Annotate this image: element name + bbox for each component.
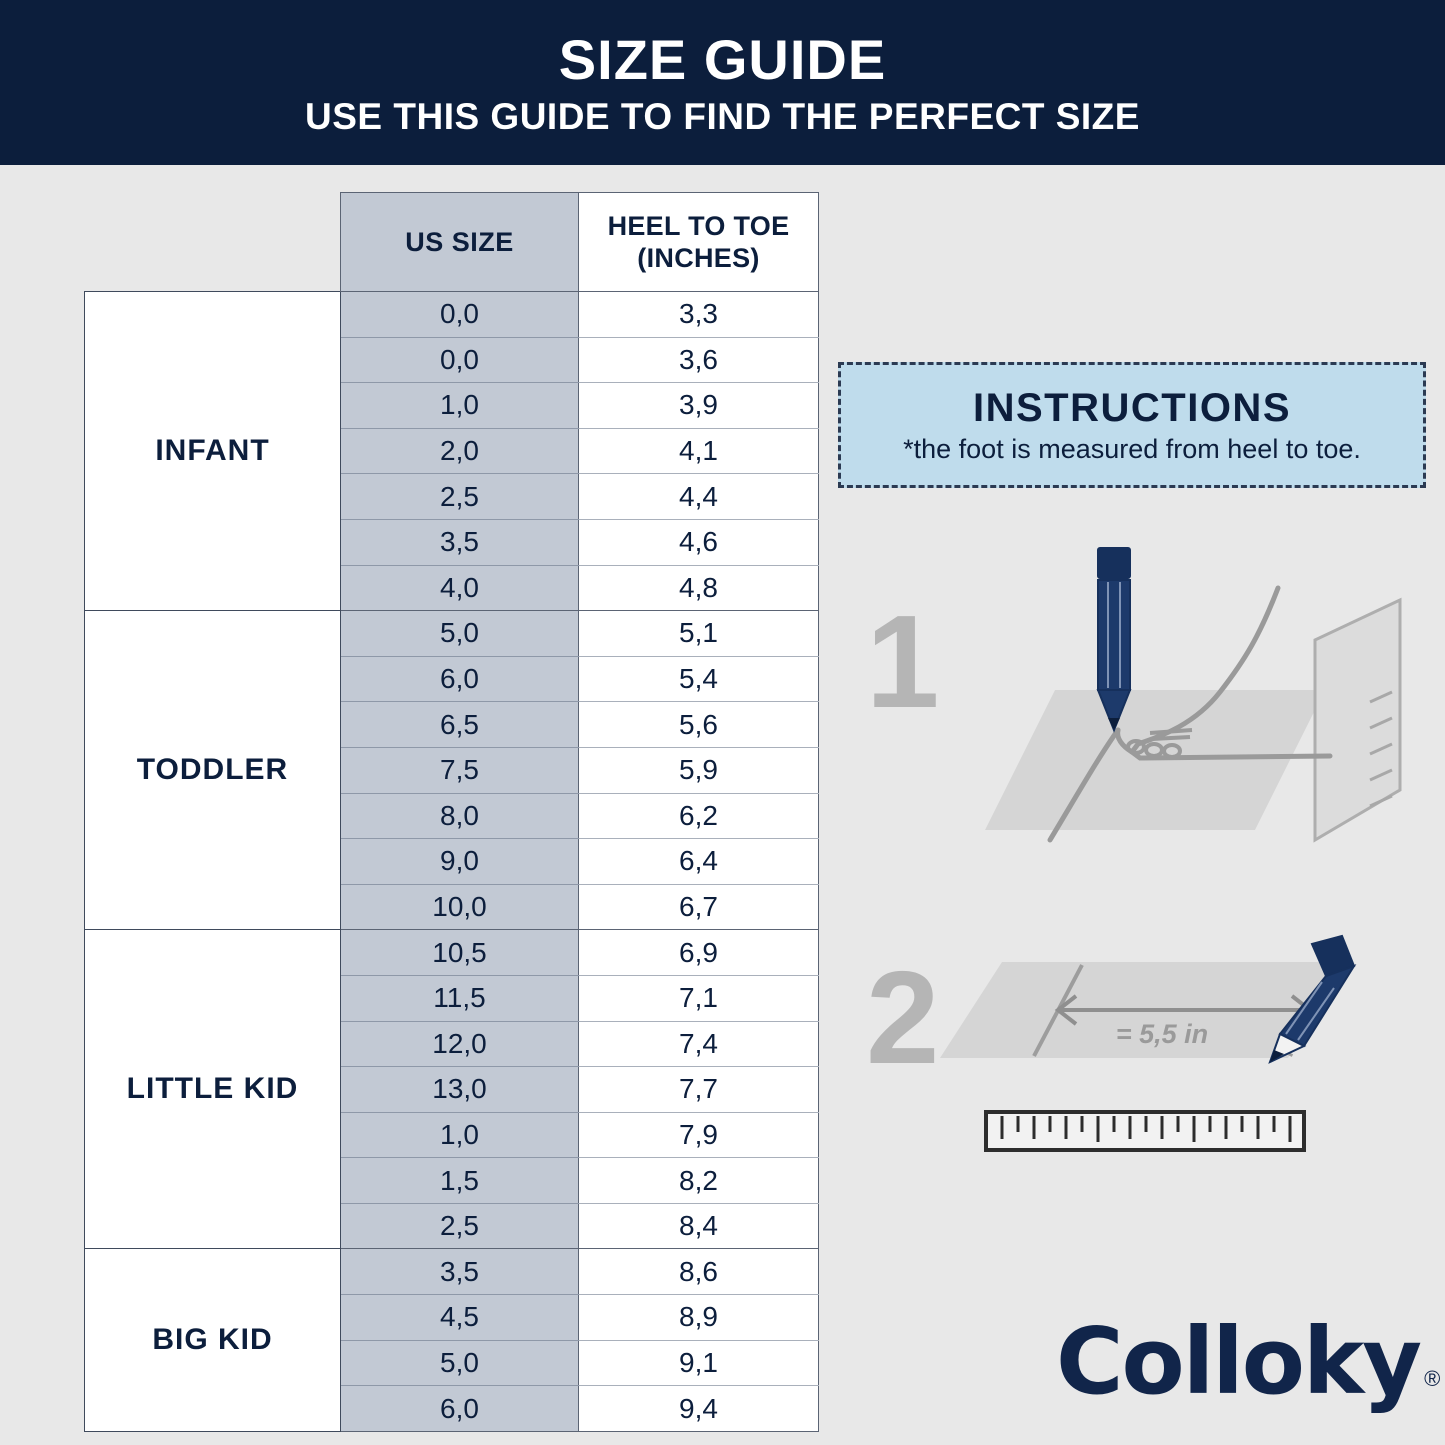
table-row: LITTLE KID10,56,9 xyxy=(85,930,819,976)
heel-to-toe-cell: 9,1 xyxy=(579,1340,819,1386)
page-title: SIZE GUIDE xyxy=(559,31,886,90)
heel-to-toe-cell: 6,9 xyxy=(579,930,819,976)
us-size-cell: 0,0 xyxy=(341,292,579,338)
column-header-heel-line1: HEEL TO TOE xyxy=(608,211,790,241)
page-subtitle: USE THIS GUIDE TO FIND THE PERFECT SIZE xyxy=(305,96,1140,139)
heel-to-toe-cell: 4,1 xyxy=(579,428,819,474)
us-size-cell: 10,5 xyxy=(341,930,579,976)
measurement-label: = 5,5 in xyxy=(1116,1019,1208,1049)
heel-to-toe-cell: 8,6 xyxy=(579,1249,819,1295)
table-header-row: US SIZE HEEL TO TOE (INCHES) xyxy=(85,193,819,292)
heel-to-toe-cell: 6,7 xyxy=(579,884,819,930)
us-size-cell: 5,0 xyxy=(341,611,579,657)
us-size-cell: 6,0 xyxy=(341,1386,579,1432)
us-size-cell: 10,0 xyxy=(341,884,579,930)
heel-to-toe-cell: 7,7 xyxy=(579,1067,819,1113)
step-2-number: 2 xyxy=(866,952,939,1084)
heel-to-toe-cell: 3,9 xyxy=(579,383,819,429)
heel-to-toe-cell: 5,1 xyxy=(579,611,819,657)
table-header-spacer xyxy=(85,193,341,292)
heel-to-toe-cell: 6,2 xyxy=(579,793,819,839)
us-size-cell: 13,0 xyxy=(341,1067,579,1113)
brand-logo: Colloky ® xyxy=(1056,1308,1416,1408)
heel-to-toe-cell: 9,4 xyxy=(579,1386,819,1432)
heel-to-toe-cell: 7,4 xyxy=(579,1021,819,1067)
heel-to-toe-cell: 4,8 xyxy=(579,565,819,611)
registered-trademark-icon: ® xyxy=(1424,1366,1440,1392)
step-1-illustration-foot-on-paper xyxy=(900,540,1430,880)
us-size-cell: 2,5 xyxy=(341,1203,579,1249)
us-size-cell: 6,0 xyxy=(341,656,579,702)
heel-to-toe-cell: 8,2 xyxy=(579,1158,819,1204)
heel-to-toe-cell: 4,6 xyxy=(579,519,819,565)
step-2-illustration-measure-paper: = 5,5 in xyxy=(930,930,1410,1170)
us-size-cell: 4,5 xyxy=(341,1295,579,1341)
us-size-cell: 7,5 xyxy=(341,747,579,793)
us-size-cell: 1,0 xyxy=(341,1112,579,1158)
category-cell: BIG KID xyxy=(85,1249,341,1431)
us-size-cell: 2,5 xyxy=(341,474,579,520)
us-size-cell: 2,0 xyxy=(341,428,579,474)
size-chart-table: US SIZE HEEL TO TOE (INCHES) INFANT0,03,… xyxy=(84,192,819,1432)
ruler-icon xyxy=(986,1112,1304,1150)
us-size-cell: 4,0 xyxy=(341,565,579,611)
heel-to-toe-cell: 5,4 xyxy=(579,656,819,702)
table-row: INFANT0,03,3 xyxy=(85,292,819,338)
instructions-box: INSTRUCTIONS *the foot is measured from … xyxy=(838,362,1426,488)
heel-to-toe-cell: 7,1 xyxy=(579,975,819,1021)
us-size-cell: 8,0 xyxy=(341,793,579,839)
us-size-cell: 9,0 xyxy=(341,839,579,885)
heel-to-toe-cell: 5,9 xyxy=(579,747,819,793)
us-size-cell: 0,0 xyxy=(341,337,579,383)
page-header-band: SIZE GUIDE USE THIS GUIDE TO FIND THE PE… xyxy=(0,0,1445,165)
pencil-icon xyxy=(1098,548,1130,730)
us-size-cell: 3,5 xyxy=(341,519,579,565)
column-header-heel-line2: (INCHES) xyxy=(637,243,759,273)
us-size-cell: 11,5 xyxy=(341,975,579,1021)
heel-to-toe-cell: 6,4 xyxy=(579,839,819,885)
heel-to-toe-cell: 8,9 xyxy=(579,1295,819,1341)
us-size-cell: 1,0 xyxy=(341,383,579,429)
category-cell: TODDLER xyxy=(85,611,341,930)
table-row: TODDLER5,05,1 xyxy=(85,611,819,657)
heel-to-toe-cell: 8,4 xyxy=(579,1203,819,1249)
category-cell: INFANT xyxy=(85,292,341,611)
us-size-cell: 5,0 xyxy=(341,1340,579,1386)
instructions-note: *the foot is measured from heel to toe. xyxy=(903,436,1361,463)
instructions-title: INSTRUCTIONS xyxy=(973,388,1291,428)
us-size-cell: 3,5 xyxy=(341,1249,579,1295)
heel-to-toe-cell: 7,9 xyxy=(579,1112,819,1158)
us-size-cell: 6,5 xyxy=(341,702,579,748)
category-cell: LITTLE KID xyxy=(85,930,341,1249)
table-body: INFANT0,03,30,03,61,03,92,04,12,54,43,54… xyxy=(85,292,819,1432)
us-size-cell: 1,5 xyxy=(341,1158,579,1204)
column-header-heel-to-toe: HEEL TO TOE (INCHES) xyxy=(579,193,819,292)
heel-to-toe-cell: 4,4 xyxy=(579,474,819,520)
heel-to-toe-cell: 3,3 xyxy=(579,292,819,338)
heel-to-toe-cell: 5,6 xyxy=(579,702,819,748)
heel-to-toe-cell: 3,6 xyxy=(579,337,819,383)
table-row: BIG KID3,58,6 xyxy=(85,1249,819,1295)
brand-logo-text: Colloky xyxy=(1056,1316,1420,1408)
column-header-us-size: US SIZE xyxy=(341,193,579,292)
us-size-cell: 12,0 xyxy=(341,1021,579,1067)
